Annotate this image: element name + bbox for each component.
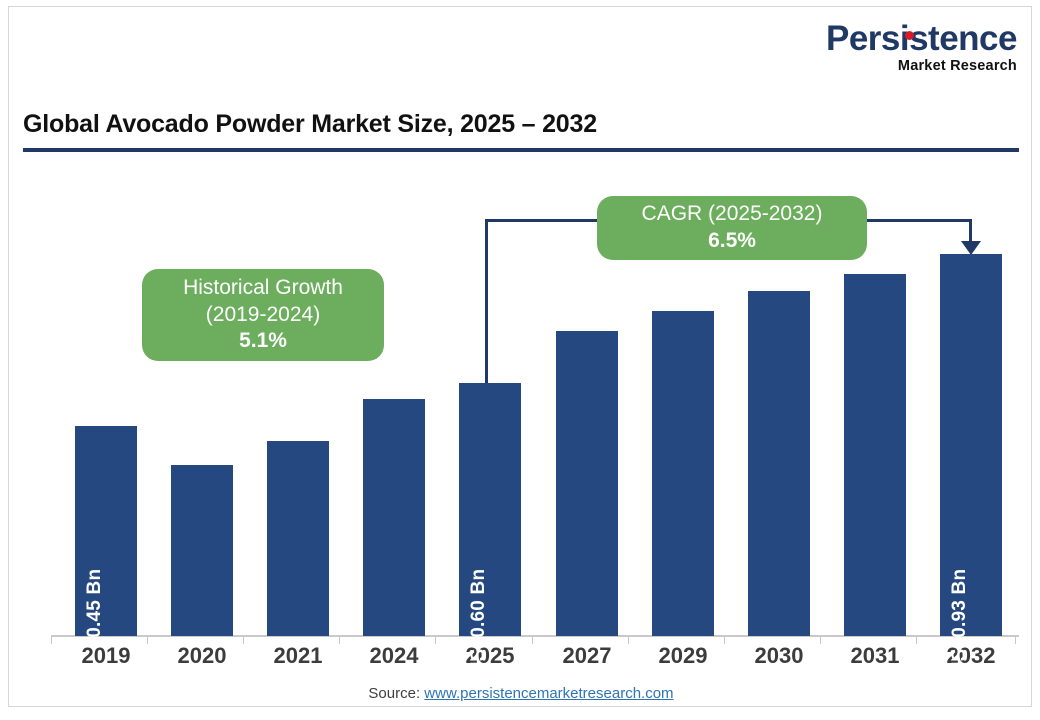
x-label-2030: 2030 — [730, 643, 828, 669]
bar-value-label-2032: US$0.93 Bn — [949, 569, 971, 676]
source-link[interactable]: www.persistencemarketresearch.com — [424, 685, 673, 702]
cagr-callout-value: 6.5% — [708, 228, 756, 255]
bar-2029 — [652, 311, 714, 636]
cagr-arrow-icon — [961, 241, 981, 255]
x-axis-labels: 2019 2020 2021 2024 2025 2027 2029 2030 … — [49, 643, 1019, 677]
x-label-2031: 2031 — [826, 643, 924, 669]
x-label-2024: 2024 — [345, 643, 443, 669]
bar-value-label-2025: US$0.60 Bn — [468, 569, 490, 676]
historical-callout-line1: Historical Growth — [183, 275, 343, 302]
report-page: Persistence Market Research Global Avoca… — [8, 6, 1032, 707]
x-label-2027: 2027 — [538, 643, 636, 669]
bar-2027 — [556, 331, 618, 636]
bar-2020 — [171, 465, 233, 636]
x-label-2032: 2032 — [922, 643, 1020, 669]
source-line: Source: www.persistencemarketresearch.co… — [9, 685, 1033, 702]
x-label-2020: 2020 — [153, 643, 251, 669]
title-divider — [23, 148, 1019, 152]
cagr-connector-left-stem — [485, 221, 488, 385]
bar-2021 — [267, 441, 329, 636]
bar-2025: US$0.60 Bn — [459, 383, 521, 636]
bar-2031 — [844, 274, 906, 636]
cagr-callout: CAGR (2025-2032) 6.5% — [597, 196, 867, 260]
historical-callout-value: 5.1% — [239, 328, 287, 355]
x-label-2025: 2025 — [441, 643, 539, 669]
bar-2030 — [748, 291, 810, 636]
brand-logo: Persistence Market Research — [805, 21, 1017, 79]
red-dot-icon — [905, 31, 914, 40]
bar-2019: US$0.45 Bn — [75, 426, 137, 636]
x-label-2019: 2019 — [57, 643, 155, 669]
logo-tagline: Market Research — [805, 59, 1017, 74]
bar-2032: US$0.93 Bn — [940, 254, 1002, 636]
historical-growth-callout: Historical Growth (2019-2024) 5.1% — [142, 269, 384, 361]
historical-callout-line2: (2019-2024) — [206, 302, 320, 329]
source-prefix: Source: — [368, 685, 424, 702]
page-title: Global Avocado Powder Market Size, 2025 … — [23, 110, 1019, 139]
x-label-2029: 2029 — [634, 643, 732, 669]
bar-2024 — [363, 399, 425, 636]
x-label-2021: 2021 — [249, 643, 347, 669]
bar-chart: US$0.45 Bn US$0.60 Bn US$0.93 Bn — [49, 167, 1019, 637]
cagr-callout-line1: CAGR (2025-2032) — [642, 201, 823, 228]
